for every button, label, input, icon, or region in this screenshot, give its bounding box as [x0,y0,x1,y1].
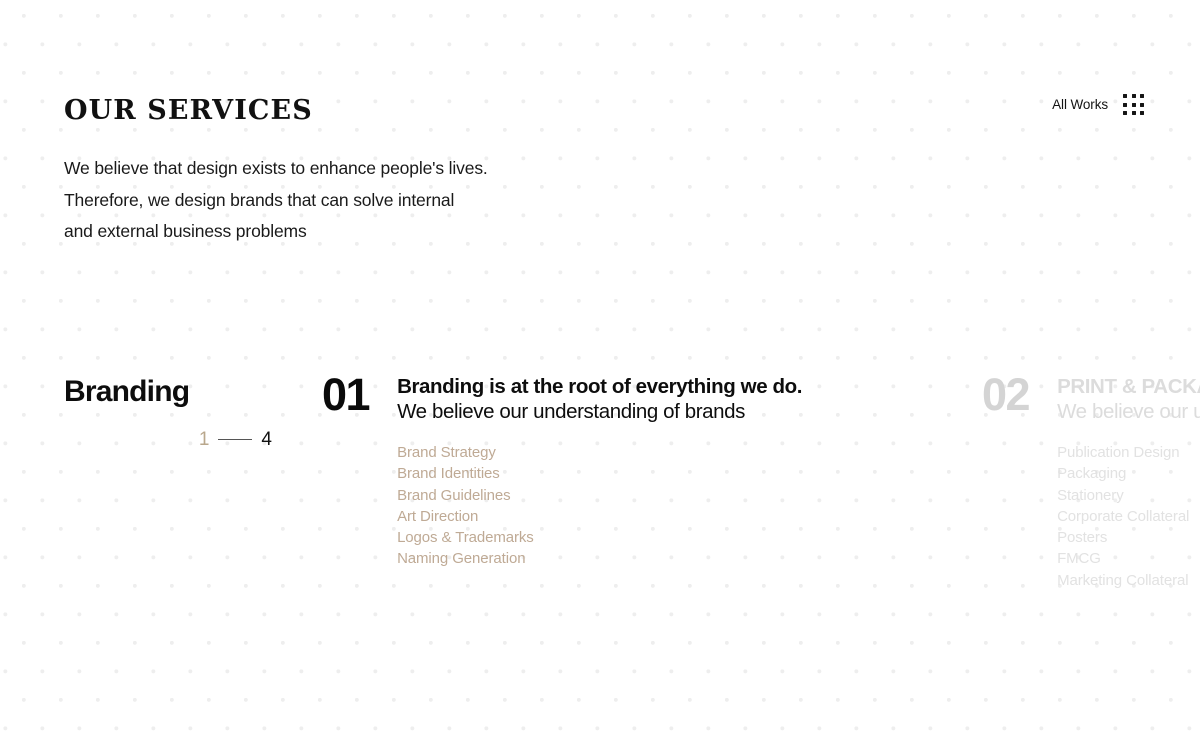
list-item[interactable]: FMCG [1057,548,1200,569]
service-body: Branding is at the root of everything we… [397,374,802,570]
service-number: 01 [322,374,369,417]
list-item[interactable]: Corporate Collateral [1057,506,1200,527]
pager-total-count: 4 [261,430,272,449]
list-item[interactable]: Brand Strategy [397,442,802,463]
category-pager: 1 4 [64,430,284,449]
list-item[interactable]: Marketing Collateral [1057,570,1200,591]
all-works-link[interactable]: All Works [1052,94,1144,115]
service-card-01[interactable]: 01 Branding is at the root of everything… [322,374,802,570]
list-item[interactable]: Art Direction [397,506,802,527]
list-item[interactable]: Brand Identities [397,463,802,484]
list-item[interactable]: Stationery [1057,485,1200,506]
category-column: Branding 1 4 [64,374,284,449]
service-body: PRINT & PACKAGING We believe our underst… [1057,374,1200,591]
page-title: OUR SERVICES [64,97,313,124]
list-item[interactable]: Publication Design [1057,442,1200,463]
service-item-list: Brand Strategy Brand Identities Brand Gu… [397,442,802,570]
service-card-02[interactable]: 02 PRINT & PACKAGING We believe our unde… [982,374,1200,591]
all-works-label: All Works [1052,98,1108,112]
intro-paragraph: We believe that design exists to enhance… [64,153,488,248]
intro-line-1: We believe that design exists to enhance… [64,153,488,185]
service-headline-bold: PRINT & PACKAGING [1057,374,1200,399]
pager-rule [218,439,252,441]
intro-line-3: and external business problems [64,216,488,248]
pager-current-index: 1 [199,430,210,449]
category-name: Branding [64,374,284,410]
service-number: 02 [982,374,1029,417]
service-headline-bold: Branding is at the root of everything we… [397,374,802,399]
services-page: OUR SERVICES We believe that design exis… [0,0,1200,750]
list-item[interactable]: Naming Generation [397,548,802,569]
list-item[interactable]: Packaging [1057,463,1200,484]
service-item-list: Publication Design Packaging Stationery … [1057,442,1200,591]
intro-line-2: Therefore, we design brands that can sol… [64,185,488,217]
service-headline-regular: We believe our understanding of brands [1057,399,1200,425]
list-item[interactable]: Brand Guidelines [397,485,802,506]
list-item[interactable]: Logos & Trademarks [397,527,802,548]
list-item[interactable]: Posters [1057,527,1200,548]
grid-dots-icon[interactable] [1123,94,1144,115]
service-headline-regular: We believe our understanding of brands [397,399,802,425]
